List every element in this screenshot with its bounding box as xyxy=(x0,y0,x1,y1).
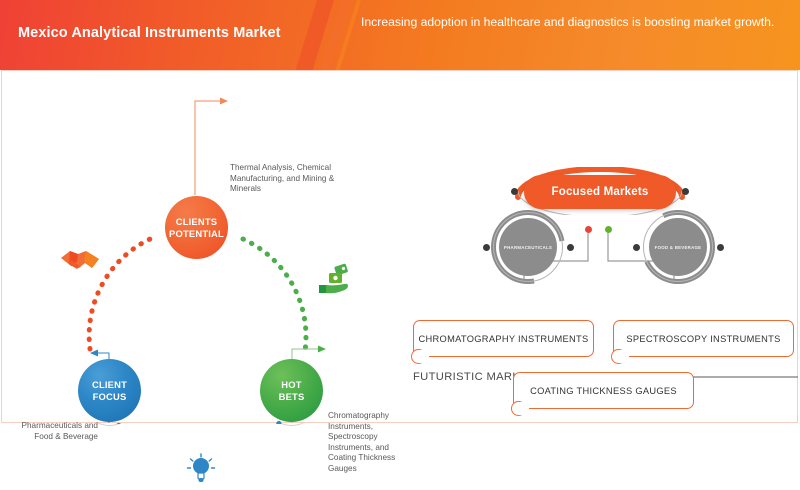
cycle-node-client-focus[interactable]: CLIENT FOCUS xyxy=(78,359,141,422)
node-label-line2: FOCUS xyxy=(93,391,127,403)
arc-clients-to-hotbets xyxy=(243,239,306,351)
arc-hotbets-to-focus xyxy=(107,408,290,424)
futuristic-bullet-mask-1 xyxy=(419,350,429,363)
node-label-line2: POTENTIAL xyxy=(169,228,224,240)
hand-money-icon xyxy=(317,263,355,302)
market-circle-body: FOOD & BEVERAGE xyxy=(649,218,707,276)
callout-client-focus: Pharmaceuticals and Food & Beverage xyxy=(10,421,98,442)
futuristic-item-label: SPECTROSCOPY INSTRUMENTS xyxy=(626,334,780,344)
leader-hotbets-arrowhead xyxy=(318,346,326,353)
branch-dot-left xyxy=(585,226,592,233)
page-title: Mexico Analytical Instruments Market xyxy=(18,25,281,41)
node-label-line1: HOT xyxy=(281,379,301,391)
callout-clients-potential: Thermal Analysis, Chemical Manufacturing… xyxy=(230,163,360,195)
cycle-node-clients-potential[interactable]: CLIENTS POTENTIAL xyxy=(165,196,228,259)
futuristic-item-coating[interactable]: COATING THICKNESS GAUGES xyxy=(513,372,694,409)
market-circle-pharmaceuticals[interactable]: PHARMACEUTICALS xyxy=(490,209,566,285)
branch-dot-right xyxy=(605,226,612,233)
node-label-line1: CLIENT xyxy=(92,379,127,391)
futuristic-item-spectroscopy[interactable]: SPECTROSCOPY INSTRUMENTS xyxy=(613,320,794,357)
infographic-root: Mexico Analytical Instruments Market Inc… xyxy=(0,0,800,425)
market-left-dot xyxy=(483,244,490,251)
cycle-node-hot-bets[interactable]: HOT BETS xyxy=(260,359,323,422)
market-left-dot xyxy=(633,244,640,251)
futuristic-item-label: COATING THICKNESS GAUGES xyxy=(530,386,677,396)
futuristic-item-label: CHROMATOGRAPHY INSTRUMENTS xyxy=(419,334,589,344)
market-label: FOOD & BEVERAGE xyxy=(655,245,702,250)
market-circle-food-beverage[interactable]: FOOD & BEVERAGE xyxy=(640,209,716,285)
leader-clients-arrowhead xyxy=(220,98,228,105)
node-label-line1: CLIENTS xyxy=(176,216,218,228)
futuristic-bullet-mask-3 xyxy=(519,402,529,415)
futuristic-item-chromatography[interactable]: CHROMATOGRAPHY INSTRUMENTS xyxy=(413,320,594,357)
callout-hot-bets: Chromatography Instruments, Spectroscopy… xyxy=(328,411,406,475)
node-label-line2: BETS xyxy=(279,391,305,403)
header-subtitle: Increasing adoption in healthcare and di… xyxy=(361,14,781,31)
futuristic-bullet-mask-2 xyxy=(619,350,629,363)
market-label: PHARMACEUTICALS xyxy=(504,245,552,250)
content-panel: CLIENTS POTENTIAL CLIENT FOCUS HOT BETS … xyxy=(1,70,798,423)
market-right-dot xyxy=(567,244,574,251)
handshake-icon xyxy=(57,244,103,281)
lightbulb-icon xyxy=(186,453,216,490)
market-circle-body: PHARMACEUTICALS xyxy=(499,218,557,276)
leader-clients xyxy=(195,101,220,195)
header-banner: Mexico Analytical Instruments Market Inc… xyxy=(0,0,800,70)
market-right-dot xyxy=(717,244,724,251)
